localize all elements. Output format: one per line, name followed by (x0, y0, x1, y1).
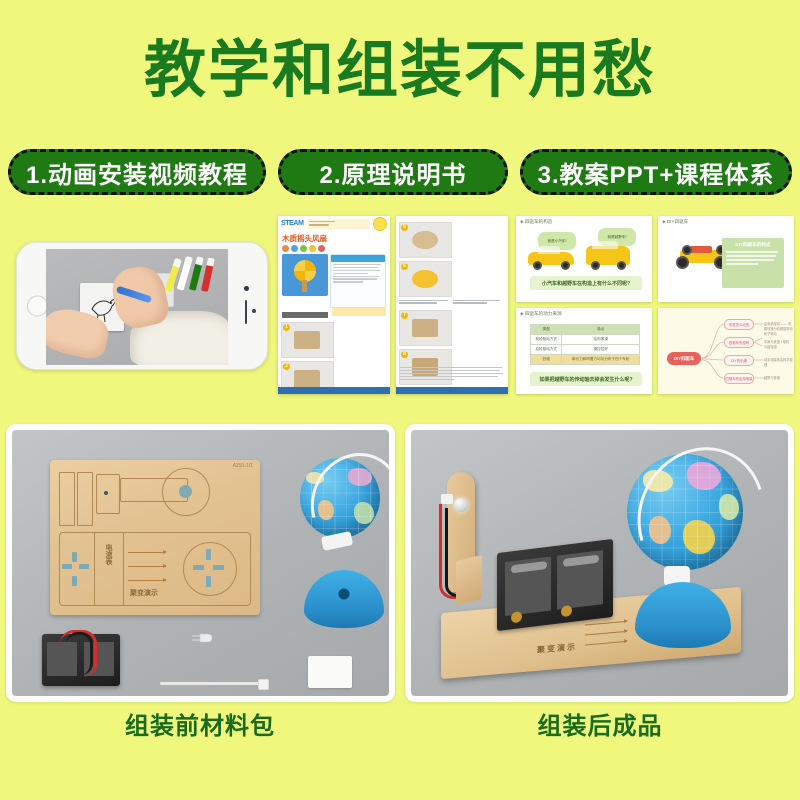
manual-page-right: 5 6 7 8 9 10 (396, 216, 508, 394)
mind-map-leaf: 越野与竞速 (764, 375, 780, 380)
steam-logo: STEAM (281, 220, 304, 227)
engraved-text: 电流表 (103, 544, 113, 565)
sensor-icon (252, 309, 256, 313)
led-connector (441, 494, 453, 504)
phone-screen-video (46, 249, 228, 365)
manual-footer-bar (278, 387, 390, 394)
table-row: 后轮驱动方式 操控性好 (531, 345, 640, 355)
mind-map-node: 车是怎么动的 (724, 319, 754, 330)
mind-map: DIY四驱车 车是怎么动的 四驱车的结构 DIY的乐趣 四驱车的应用场景 由电机… (658, 308, 794, 394)
manual-header: STEAM (278, 216, 390, 231)
manual-barcode (282, 312, 328, 318)
table-header-row: 类型 特点 (531, 325, 640, 335)
slide-heading: DIY四驱车 (662, 219, 688, 225)
base-engraving: 聚变演示 (537, 641, 577, 655)
mind-map-root: DIY四驱车 (667, 352, 701, 365)
assembled-product-photo: 聚变演示 (411, 430, 788, 696)
ppt-slide-2[interactable]: DIY四驱车 DIY四驱车的特点 (658, 216, 794, 302)
ppt-slide-3[interactable]: 四驱车的动力来源 类型 特点 前轮驱动方式 结构紧凑 后轮驱动方式 操控性好 四… (516, 308, 652, 394)
sponge-pad (308, 656, 352, 688)
media-row: STEAM 木质摇头风扇 1 2 (0, 210, 800, 400)
manual-paragraph (400, 367, 504, 382)
table-row: 前轮驱动方式 结构紧凑 (531, 335, 640, 345)
battery-holder (497, 539, 613, 631)
slide-question: 如果把越野车的传动轴去掉会发生什么呢? (530, 372, 642, 386)
ppt-slide-grid: 四驱车的构造 我是小汽车! 我是越野车! 小汽车和越野车在构造上有什么不同呢? … (516, 216, 794, 394)
wheel-icon (617, 261, 626, 270)
wheel-icon (591, 261, 600, 270)
mind-map-leaf: 由电机驱动 —— 电能转换为机械能带动轮子转动 (764, 321, 794, 336)
photo-caption-row: 组装前材料包 组装后成品 (0, 706, 800, 741)
cable-tie (160, 682, 264, 685)
manual-highlight-note (332, 308, 386, 316)
mind-map-leaf: 车身与底盘 / 电机与齿轮组 (764, 339, 792, 349)
manual-step: 6 (399, 261, 452, 297)
table-header-cell: 特点 (562, 325, 640, 335)
photo-assembled: 聚变演示 (405, 424, 794, 702)
product-photo-panels: A291-1/1 电流表 (6, 424, 794, 702)
ppt-slide-1[interactable]: 四驱车的构造 我是小汽车! 我是越野车! 小汽车和越野车在构造上有什么不同呢? (516, 216, 652, 302)
fan-stand (302, 280, 307, 292)
caption-kit-parts: 组装前材料包 (0, 706, 400, 741)
mind-map-node: 四驱车的结构 (724, 337, 754, 348)
slide-textbox: DIY四驱车的特点 (722, 238, 784, 288)
mind-map-node: 四驱车的应用场景 (724, 373, 754, 384)
manual-step: 1 (281, 322, 334, 358)
photo-kit-parts: A291-1/1 电流表 (6, 424, 395, 702)
globe-base (304, 570, 384, 628)
mind-map-node: DIY的乐趣 (724, 355, 754, 366)
textbox-title: DIY四驱车的特点 (726, 242, 780, 248)
manual-chip-row (278, 245, 390, 252)
pill-video-tutorial[interactable]: 1.动画安装视频教程 (8, 149, 266, 195)
ppt-slide-4[interactable]: DIY四驱车 车是怎么动的 四驱车的结构 DIY的乐趣 四驱车的应用场景 由电机… (658, 308, 794, 394)
led-icon (190, 632, 214, 648)
manual-infobox (330, 254, 386, 308)
caption-assembled: 组装后成品 (400, 706, 800, 741)
wheel-icon (533, 261, 542, 270)
phone-mockup (16, 242, 268, 370)
wheel-icon (561, 261, 570, 270)
pill-principle-manual[interactable]: 2.原理说明书 (278, 149, 508, 195)
battery-holder (42, 634, 120, 686)
table-header-cell: 类型 (531, 325, 562, 335)
mascot-icon (373, 217, 387, 231)
manual-title: 木质摇头风扇 (278, 231, 390, 245)
home-button-icon (27, 296, 48, 317)
front-camera-icon (244, 286, 249, 291)
manual-hero-photo (282, 254, 328, 296)
mind-map-leaf: 动手组装体会科学原理 (764, 357, 794, 367)
manual-header-note (307, 219, 370, 229)
feature-pill-row: 1.动画安装视频教程 2.原理说明书 3.教案PPT+课程体系 (8, 146, 792, 198)
table-footer-row: 四驱 牵引力和附着力均匀分布于四个车轮 (531, 355, 640, 365)
manual-footer-bar (396, 387, 508, 394)
plywood-sheet: A291-1/1 电流表 (50, 460, 260, 615)
slide-heading: 四驱车的动力来源 (520, 311, 562, 317)
support-block (456, 555, 482, 605)
manual-page-left: STEAM 木质摇头风扇 1 2 (278, 216, 390, 394)
slide-heading: 四驱车的构造 (520, 219, 552, 225)
speaker-icon (245, 300, 248, 324)
comparison-table: 类型 特点 前轮驱动方式 结构紧凑 后轮驱动方式 操控性好 四驱 牵引力和附着力… (530, 324, 640, 365)
manual-step: 5 (399, 222, 452, 258)
page-title: 教学和组装不用愁 (0, 36, 800, 106)
phone-body (16, 242, 268, 370)
sheet-code: A291-1/1 (233, 463, 253, 469)
manual-step: 7 (399, 310, 452, 346)
kit-parts-photo: A291-1/1 电流表 (12, 430, 389, 696)
slide-question: 小汽车和越野车在构造上有什么不同呢? (530, 276, 642, 290)
engraved-label: 聚变演示 (130, 588, 158, 598)
pill-lesson-ppt[interactable]: 3.教案PPT+课程体系 (520, 149, 792, 195)
knob-hole (179, 485, 192, 498)
manual-step-grid: 1 2 3 4 (281, 322, 387, 394)
fan-icon (294, 260, 316, 282)
